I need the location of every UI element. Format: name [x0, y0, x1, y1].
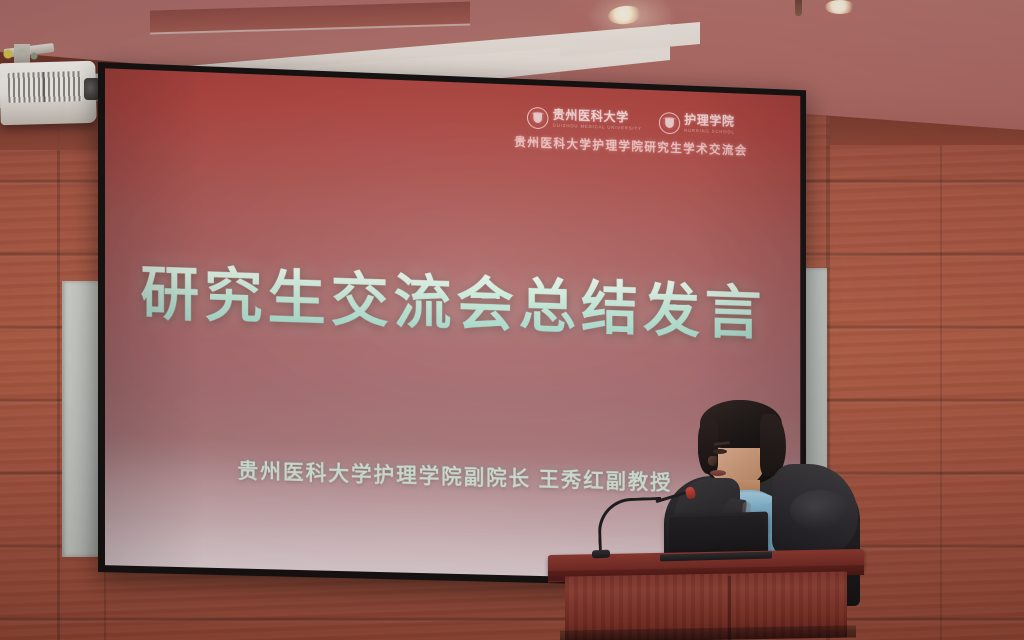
nursing-school-name-cn: 护理学院	[684, 114, 735, 128]
slide-header: 贵州医科大学 GUIZHOU MEDICAL UNIVERSITY 护理学院 N…	[105, 90, 800, 160]
ceiling-sprinkler-icon	[795, 0, 802, 16]
projector-vent-divider	[8, 71, 83, 103]
presenter-shoulder-highlight	[790, 490, 850, 530]
laptop-screen	[669, 515, 765, 556]
university-name-en: GUIZHOU MEDICAL UNIVERSITY	[553, 124, 642, 132]
slide-title: 研究生交流会总结发言	[105, 244, 800, 351]
presenter-eye	[713, 449, 727, 454]
lecture-hall-scene: 贵州医科大学 GUIZHOU MEDICAL UNIVERSITY 护理学院 N…	[0, 0, 1024, 640]
nursing-school-logo-text: 护理学院 NURSING SCHOOL	[684, 114, 735, 135]
slide-watermark	[284, 486, 607, 564]
university-logo: 贵州医科大学 GUIZHOU MEDICAL UNIVERSITY	[527, 107, 641, 133]
presenter-nose	[708, 456, 717, 466]
ceiling-spotlight-2-icon	[825, 0, 855, 14]
nursing-school-logo: 护理学院 NURSING SCHOOL	[659, 112, 735, 137]
presenter-mouth	[710, 470, 726, 476]
nursing-school-name-en: NURSING SCHOOL	[684, 129, 735, 135]
university-logo-text: 贵州医科大学 GUIZHOU MEDICAL UNIVERSITY	[553, 109, 642, 132]
nursing-school-seal-icon	[659, 112, 680, 134]
presenter-hair-side-left	[698, 420, 718, 474]
microphone-base	[592, 550, 610, 559]
projector-cable-bundle	[0, 48, 46, 60]
university-seal-icon	[527, 107, 548, 130]
